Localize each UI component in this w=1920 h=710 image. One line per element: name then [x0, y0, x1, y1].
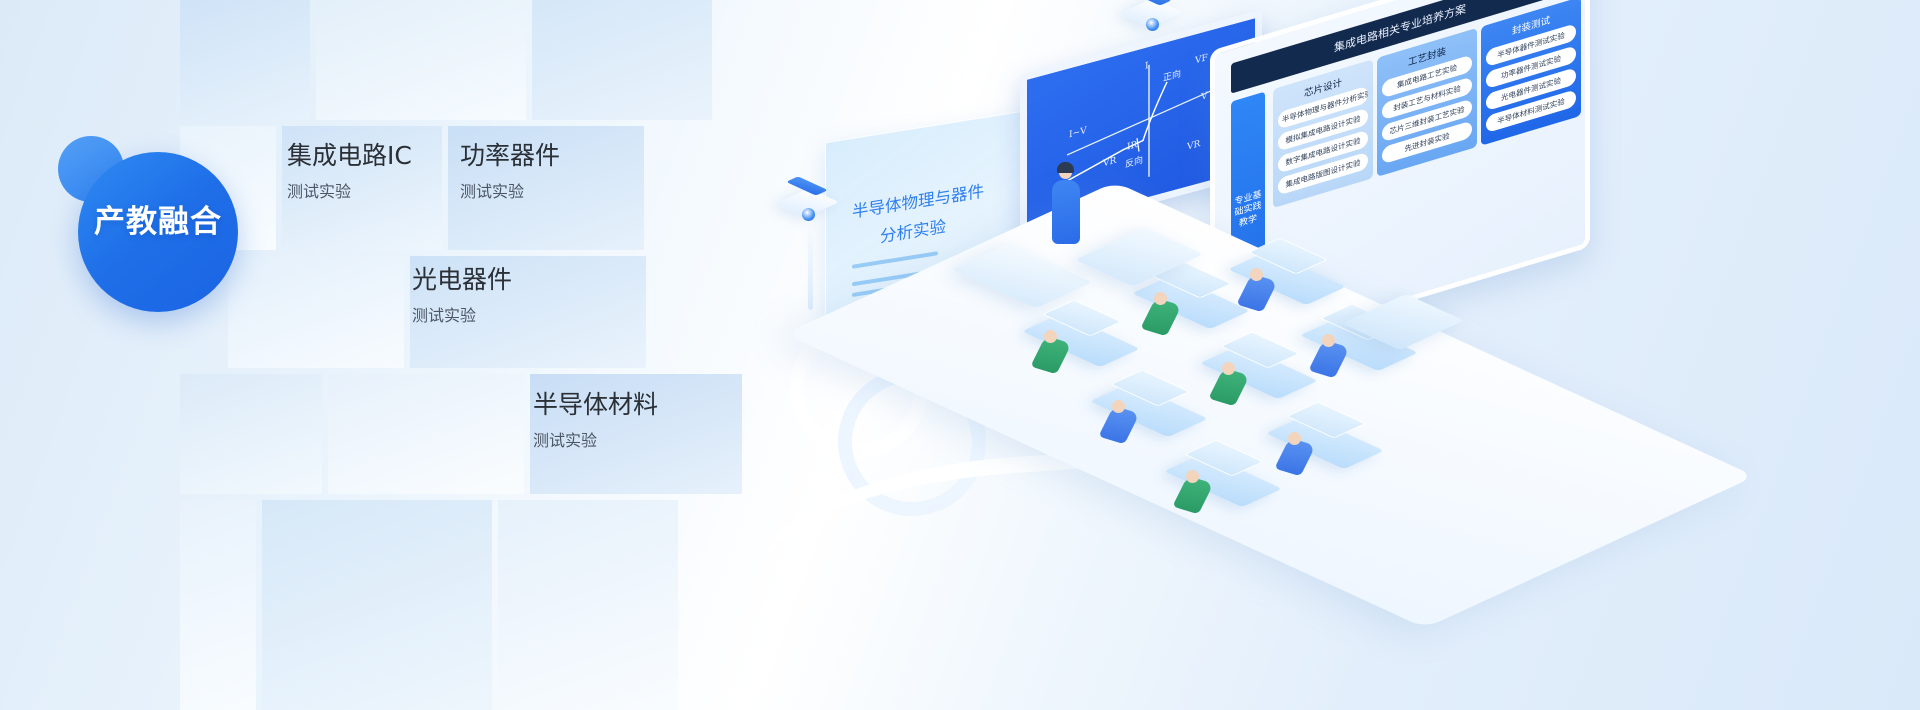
mosaic-block — [532, 0, 712, 120]
student-head — [1112, 400, 1125, 413]
card-semiconductor-material[interactable]: 半导体材料 测试实验 — [533, 391, 658, 451]
curriculum-column-process: 工艺封装 集成电路工艺实验 封装工艺与材料实验 芯片三维封装工艺实验 先进封装实… — [1377, 28, 1477, 177]
camera-lens-icon — [802, 208, 815, 221]
camera-lens-icon — [1146, 18, 1159, 31]
teacher-hair — [1057, 162, 1074, 173]
student-head — [1186, 470, 1199, 483]
card-title: 功率器件 — [460, 142, 560, 171]
card-subtitle: 测试实验 — [412, 302, 512, 326]
mosaic-block — [498, 500, 678, 710]
student-head — [1222, 362, 1235, 375]
board-axis-i: I — [1145, 61, 1149, 72]
card-title: 集成电路IC — [287, 142, 412, 171]
mosaic-block — [228, 256, 404, 368]
student-head — [1154, 292, 1167, 305]
card-subtitle: 测试实验 — [287, 178, 412, 202]
student-head — [1322, 334, 1335, 347]
student-head — [1288, 432, 1301, 445]
banner-stage: 产教融合 集成电路IC 测试实验 功率器件 测试实验 光电器件 测试实验 半导体… — [0, 0, 1920, 710]
mosaic-block — [180, 374, 322, 494]
curriculum-column-test: 封装测试 半导体器件测试实验 功率器件测试实验 光电器件测试实验 半导体材料测试… — [1481, 0, 1581, 146]
student-head — [1044, 330, 1057, 343]
card-power-device[interactable]: 功率器件 测试实验 — [460, 142, 560, 202]
mosaic-block — [180, 0, 310, 120]
mosaic-block — [180, 500, 256, 710]
mosaic-block — [328, 374, 524, 494]
lab-illustration: 半导体物理与器件 分析实验 I~V I V 正向 VF 反向 IR VR VR … — [780, 0, 1920, 710]
card-ic[interactable]: 集成电路IC 测试实验 — [287, 142, 412, 202]
badge-label: 产教融合 — [62, 196, 254, 241]
board-axis-v: V — [1201, 91, 1208, 103]
card-optoelectronic-device[interactable]: 光电器件 测试实验 — [412, 266, 512, 326]
teacher-body — [1052, 180, 1080, 244]
mosaic-block — [262, 500, 492, 710]
card-subtitle: 测试实验 — [533, 427, 658, 451]
card-title: 光电器件 — [412, 266, 512, 295]
card-subtitle: 测试实验 — [460, 178, 560, 202]
curriculum-column-design: 芯片设计 半导体物理与器件分析实验 模拟集成电路设计实验 数字集成电路设计实验 … — [1273, 59, 1373, 208]
mosaic-block — [316, 0, 526, 120]
card-title: 半导体材料 — [533, 391, 658, 420]
student-head — [1250, 268, 1263, 281]
